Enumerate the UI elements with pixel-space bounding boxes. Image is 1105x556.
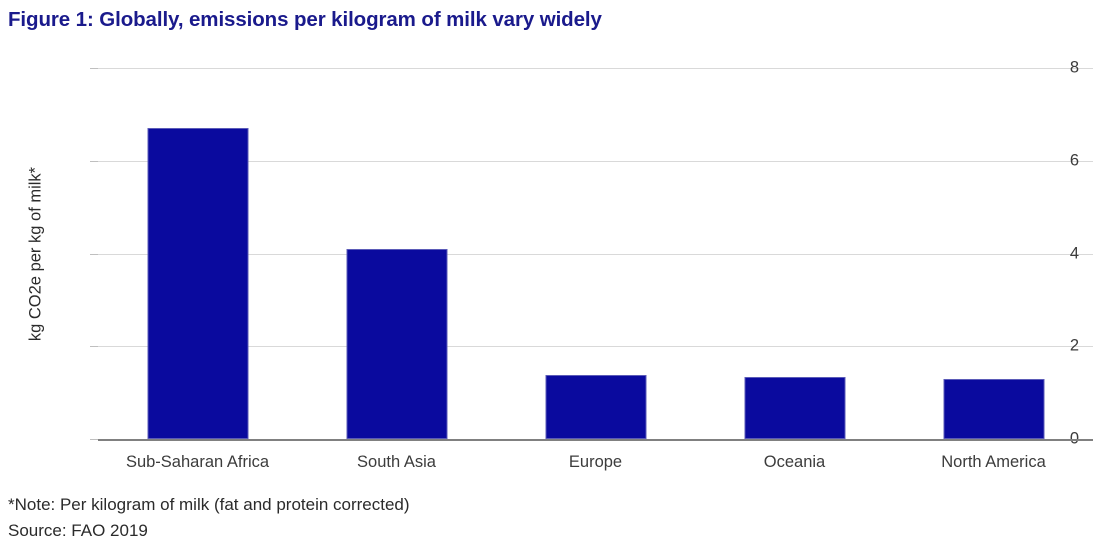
x-tick-slot: Europe xyxy=(496,439,695,479)
y-tick-mark xyxy=(90,68,98,69)
x-tick-slot: Oceania xyxy=(695,439,894,479)
plot-area: 02468 kg CO2e per kg of milk* xyxy=(98,68,1093,439)
footnote-note: *Note: Per kilogram of milk (fat and pro… xyxy=(8,492,410,518)
y-tick-mark xyxy=(90,346,98,347)
bar[interactable] xyxy=(545,375,646,439)
bar[interactable] xyxy=(147,128,248,439)
footnote-source: Source: FAO 2019 xyxy=(8,518,410,544)
page-title: Figure 1: Globally, emissions per kilogr… xyxy=(8,8,602,32)
y-tick-mark xyxy=(90,161,98,162)
bar-series xyxy=(98,68,1093,439)
bar[interactable] xyxy=(744,377,845,439)
x-tick-label: Europe xyxy=(569,453,622,472)
x-tick-label: North America xyxy=(941,453,1046,472)
x-axis: Sub-Saharan AfricaSouth AsiaEuropeOceani… xyxy=(98,439,1093,479)
bar-slot xyxy=(297,68,496,439)
y-tick-mark xyxy=(90,439,98,440)
bar-slot xyxy=(496,68,695,439)
bar-slot xyxy=(98,68,297,439)
x-tick-label: South Asia xyxy=(357,453,436,472)
x-tick-slot: North America xyxy=(894,439,1093,479)
bar-slot xyxy=(894,68,1093,439)
bar[interactable] xyxy=(346,249,447,439)
x-tick-slot: South Asia xyxy=(297,439,496,479)
x-tick-label: Oceania xyxy=(764,453,825,472)
x-tick-label: Sub-Saharan Africa xyxy=(126,453,269,472)
bar-chart: 02468 kg CO2e per kg of milk* Sub-Sahara… xyxy=(0,48,1105,488)
y-axis-title: kg CO2e per kg of milk* xyxy=(27,89,46,419)
bar[interactable] xyxy=(943,379,1044,439)
x-tick-slot: Sub-Saharan Africa xyxy=(98,439,297,479)
bar-slot xyxy=(695,68,894,439)
y-tick-mark xyxy=(90,254,98,255)
footnotes: *Note: Per kilogram of milk (fat and pro… xyxy=(8,492,410,544)
